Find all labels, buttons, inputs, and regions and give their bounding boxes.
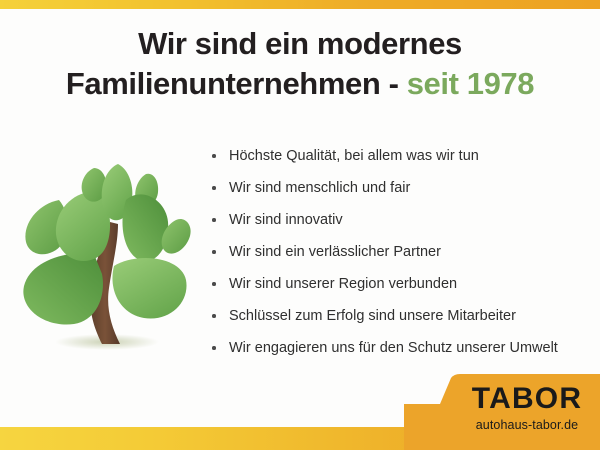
bullet-dot-icon <box>212 346 216 350</box>
list-item: Wir sind menschlich und fair <box>208 172 600 204</box>
tree-leaf-right-lower <box>112 258 186 319</box>
tree-illustration <box>14 162 200 360</box>
bullet-dot-icon <box>212 282 216 286</box>
list-item: Schlüssel zum Erfolg sind unsere Mitarbe… <box>208 300 600 332</box>
headline-line-1: Wir sind ein modernes <box>0 24 600 64</box>
list-item: Wir sind ein verlässlicher Partner <box>208 236 600 268</box>
list-item: Wir sind unserer Region verbunden <box>208 268 600 300</box>
bullet-dot-icon <box>212 218 216 222</box>
tree-leaf-left-mid <box>56 191 110 261</box>
tree-leaf-right-mid <box>122 194 168 261</box>
top-accent-bar <box>0 0 600 9</box>
headline-line-2: Familienunternehmen - seit 1978 <box>0 64 600 104</box>
bullet-dot-icon <box>212 250 216 254</box>
list-item-label: Wir sind menschlich und fair <box>229 180 410 196</box>
brand-logo-panel[interactable]: TABOR autohaus-tabor.de <box>404 374 600 450</box>
promo-slide: Wir sind ein modernes Familienunternehme… <box>0 0 600 450</box>
list-item-label: Wir engagieren uns für den Schutz unsere… <box>229 340 558 356</box>
list-item-label: Wir sind innovativ <box>229 212 343 228</box>
brand-url: autohaus-tabor.de <box>454 418 600 432</box>
list-item: Wir sind innovativ <box>208 204 600 236</box>
list-item-label: Wir sind ein verlässlicher Partner <box>229 244 441 260</box>
bullet-dot-icon <box>212 314 216 318</box>
list-item: Wir engagieren uns für den Schutz unsere… <box>208 332 600 364</box>
brand-wordmark: TABOR <box>454 382 600 416</box>
benefits-list: Höchste Qualität, bei allem was wir tun … <box>208 140 600 364</box>
headline-line-2-main: Familienunternehmen - <box>66 66 407 101</box>
list-item-label: Wir sind unserer Region verbunden <box>229 276 457 292</box>
tree-leaf-left-lower <box>23 253 103 324</box>
list-item-label: Höchste Qualität, bei allem was wir tun <box>229 148 479 164</box>
list-item: Höchste Qualität, bei allem was wir tun <box>208 140 600 172</box>
bullet-dot-icon <box>212 186 216 190</box>
page-title: Wir sind ein modernes Familienunternehme… <box>0 24 600 104</box>
list-item-label: Schlüssel zum Erfolg sind unsere Mitarbe… <box>229 308 516 324</box>
bullet-dot-icon <box>212 154 216 158</box>
headline-accent: seit 1978 <box>407 66 534 101</box>
